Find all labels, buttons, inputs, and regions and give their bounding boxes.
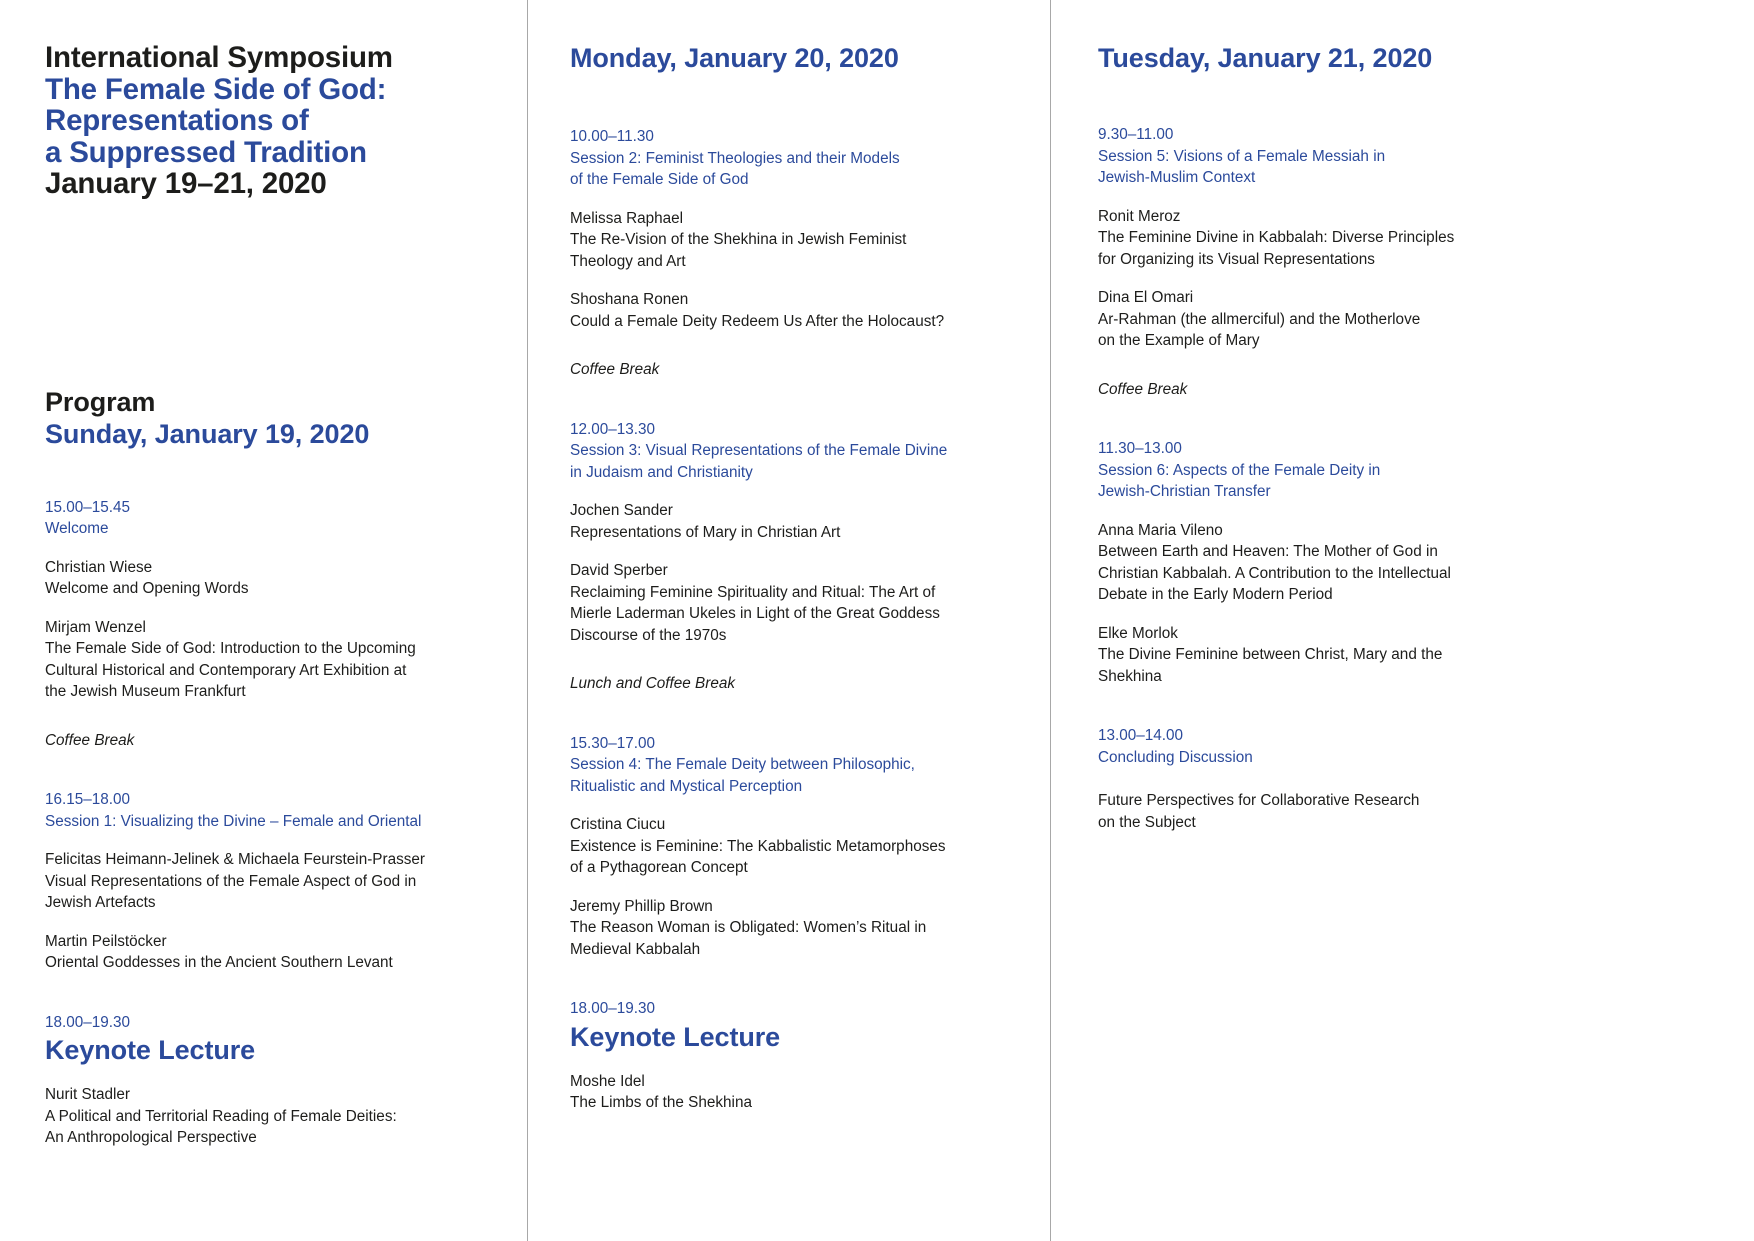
talk-title-line: Oriental Goddesses in the Ancient Southe… [45, 952, 497, 974]
break-label: Coffee Break [570, 359, 1020, 381]
talk-item: Jeremy Phillip Brown The Reason Woman is… [570, 896, 1020, 961]
talk-title-line: of a Pythagorean Concept [570, 857, 1020, 879]
talk-title-line: The Reason Woman is Obligated: Women’s R… [570, 917, 1020, 939]
talk-item: David Sperber Reclaiming Feminine Spirit… [570, 560, 1020, 646]
talk-item: Moshe Idel The Limbs of the Shekhina [570, 1071, 1020, 1114]
talk-title-line: An Anthropological Perspective [45, 1127, 497, 1149]
slot-welcome: 15.00–15.45 Welcome Christian Wiese Welc… [45, 497, 497, 752]
talk-item: Melissa Raphael The Re-Vision of the She… [570, 208, 1020, 273]
talk-title-line: Welcome and Opening Words [45, 578, 497, 600]
talk-title-line: The Divine Feminine between Christ, Mary… [1098, 644, 1714, 666]
speaker-name: Elke Morlok [1098, 623, 1714, 645]
keynote-label: Keynote Lecture [45, 1034, 497, 1067]
slot-session-4: 15.30–17.00 Session 4: The Female Deity … [570, 733, 1020, 961]
talk-title-line: Shekhina [1098, 666, 1714, 688]
talk-title-line: the Jewish Museum Frankfurt [45, 681, 497, 703]
slot-time: 15.00–15.45 [45, 497, 497, 519]
slot-time: 13.00–14.00 [1098, 725, 1714, 747]
slot-session-title: Concluding Discussion [1098, 747, 1714, 769]
slot-session-title: Welcome [45, 518, 497, 540]
talk-title-line: The Female Side of God: Introduction to … [45, 638, 497, 660]
symposium-title: International Symposium The Female Side … [45, 42, 497, 200]
talk-item: Cristina Ciucu Existence is Feminine: Th… [570, 814, 1020, 879]
talk-item: Ronit Meroz The Feminine Divine in Kabba… [1098, 206, 1714, 271]
slot-concluding-discussion: 13.00–14.00 Concluding Discussion Future… [1098, 725, 1714, 833]
talk-item: Felicitas Heimann-Jelinek & Michaela Feu… [45, 849, 497, 914]
talk-title-line: The Feminine Divine in Kabbalah: Diverse… [1098, 227, 1714, 249]
break-label: Coffee Break [45, 730, 497, 752]
speaker-name: Melissa Raphael [570, 208, 1020, 230]
slot-time: 10.00–11.30 [570, 126, 1020, 148]
break-label: Lunch and Coffee Break [570, 673, 1020, 695]
slot-session-title: Session 1: Visualizing the Divine – Fema… [45, 811, 497, 833]
talk-title-line: The Limbs of the Shekhina [570, 1092, 1020, 1114]
slot-session-title: Session 6: Aspects of the Female Deity i… [1098, 460, 1714, 482]
talk-title-line: Theology and Art [570, 251, 1020, 273]
talk-title-line: Medieval Kabbalah [570, 939, 1020, 961]
title-line-4: a Suppressed Tradition [45, 137, 497, 169]
talk-title-line: Between Earth and Heaven: The Mother of … [1098, 541, 1714, 563]
column-sunday: International Symposium The Female Side … [0, 0, 527, 1241]
speaker-name: Shoshana Ronen [570, 289, 1020, 311]
talk-title-line: Cultural Historical and Contemporary Art… [45, 660, 497, 682]
slot-session-title: Session 2: Feminist Theologies and their… [570, 148, 1020, 170]
program-heading: Program Sunday, January 19, 2020 [45, 386, 497, 450]
talk-item: Christian Wiese Welcome and Opening Word… [45, 557, 497, 600]
talk-title-line: The Re-Vision of the Shekhina in Jewish … [570, 229, 1020, 251]
slot-time: 11.30–13.00 [1098, 438, 1714, 460]
day-heading-monday: Monday, January 20, 2020 [570, 42, 1020, 74]
title-line-5: January 19–21, 2020 [45, 168, 497, 200]
talk-title-line: Could a Female Deity Redeem Us After the… [570, 311, 1020, 333]
title-line-1: International Symposium [45, 42, 497, 74]
keynote-label: Keynote Lecture [570, 1021, 1020, 1054]
talk-title-line: Existence is Feminine: The Kabbalistic M… [570, 836, 1020, 858]
slot-session-6: 11.30–13.00 Session 6: Aspects of the Fe… [1098, 438, 1714, 687]
concluding-note: Future Perspectives for Collaborative Re… [1098, 790, 1714, 833]
day-heading-tuesday: Tuesday, January 21, 2020 [1098, 42, 1714, 74]
talk-item: Elke Morlok The Divine Feminine between … [1098, 623, 1714, 688]
slot-session-title-cont: Jewish-Christian Transfer [1098, 481, 1714, 503]
talk-title-line: Jewish Artefacts [45, 892, 497, 914]
slot-session-1: 16.15–18.00 Session 1: Visualizing the D… [45, 789, 497, 974]
slot-session-2: 10.00–11.30 Session 2: Feminist Theologi… [570, 126, 1020, 381]
talk-title-line: Debate in the Early Modern Period [1098, 584, 1714, 606]
slot-time: 9.30–11.00 [1098, 124, 1714, 146]
talk-title-line: Ar-Rahman (the allmerciful) and the Moth… [1098, 309, 1714, 331]
slot-time: 18.00–19.30 [45, 1012, 497, 1034]
speaker-name: Nurit Stadler [45, 1084, 497, 1106]
slot-time: 15.30–17.00 [570, 733, 1020, 755]
talk-item: Shoshana Ronen Could a Female Deity Rede… [570, 289, 1020, 332]
talk-title-line: Discourse of the 1970s [570, 625, 1020, 647]
speaker-name: Cristina Ciucu [570, 814, 1020, 836]
break-label: Coffee Break [1098, 379, 1714, 401]
slot-session-title-cont: in Judaism and Christianity [570, 462, 1020, 484]
slot-session-title: Session 5: Visions of a Female Messiah i… [1098, 146, 1714, 168]
speaker-name: Jochen Sander [570, 500, 1020, 522]
talk-item: Martin Peilstöcker Oriental Goddesses in… [45, 931, 497, 974]
slot-keynote-sunday: 18.00–19.30 Keynote Lecture Nurit Stadle… [45, 1012, 497, 1149]
slot-session-title: Session 3: Visual Representations of the… [570, 440, 1020, 462]
slot-session-title-cont: Jewish-Muslim Context [1098, 167, 1714, 189]
speaker-name: Christian Wiese [45, 557, 497, 579]
speaker-name: Felicitas Heimann-Jelinek & Michaela Feu… [45, 849, 497, 871]
talk-title-line: Representations of Mary in Christian Art [570, 522, 1020, 544]
slot-session-title-cont: Ritualistic and Mystical Perception [570, 776, 1020, 798]
talk-title-line: A Political and Territorial Reading of F… [45, 1106, 497, 1128]
speaker-name: Jeremy Phillip Brown [570, 896, 1020, 918]
talk-item: Dina El Omari Ar-Rahman (the allmerciful… [1098, 287, 1714, 352]
speaker-name: Moshe Idel [570, 1071, 1020, 1093]
column-monday: Monday, January 20, 2020 10.00–11.30 Ses… [527, 0, 1050, 1241]
slot-session-title: Session 4: The Female Deity between Phil… [570, 754, 1020, 776]
title-line-2: The Female Side of God: [45, 74, 497, 106]
speaker-name: Martin Peilstöcker [45, 931, 497, 953]
note-line: Future Perspectives for Collaborative Re… [1098, 790, 1714, 812]
talk-item: Jochen Sander Representations of Mary in… [570, 500, 1020, 543]
speaker-name: Anna Maria Vileno [1098, 520, 1714, 542]
slot-time: 18.00–19.30 [570, 998, 1020, 1020]
column-tuesday: Tuesday, January 21, 2020 9.30–11.00 Ses… [1050, 0, 1754, 1241]
note-line: on the Subject [1098, 812, 1714, 834]
slot-keynote-monday: 18.00–19.30 Keynote Lecture Moshe Idel T… [570, 998, 1020, 1114]
speaker-name: Mirjam Wenzel [45, 617, 497, 639]
slot-time: 16.15–18.00 [45, 789, 497, 811]
talk-title-line: Visual Representations of the Female Asp… [45, 871, 497, 893]
speaker-name: Dina El Omari [1098, 287, 1714, 309]
talk-title-line: Christian Kabbalah. A Contribution to th… [1098, 563, 1714, 585]
talk-title-line: for Organizing its Visual Representation… [1098, 249, 1714, 271]
day-heading-sunday: Sunday, January 19, 2020 [45, 418, 497, 450]
speaker-name: David Sperber [570, 560, 1020, 582]
talk-item: Nurit Stadler A Political and Territoria… [45, 1084, 497, 1149]
program-poster: International Symposium The Female Side … [0, 0, 1754, 1241]
talk-title-line: Reclaiming Feminine Spirituality and Rit… [570, 582, 1020, 604]
slot-session-title-cont: of the Female Side of God [570, 169, 1020, 191]
talk-title-line: Mierle Laderman Ukeles in Light of the G… [570, 603, 1020, 625]
slot-session-5: 9.30–11.00 Session 5: Visions of a Femal… [1098, 124, 1714, 400]
program-label: Program [45, 386, 497, 418]
slot-time: 12.00–13.30 [570, 419, 1020, 441]
talk-item: Mirjam Wenzel The Female Side of God: In… [45, 617, 497, 703]
title-line-3: Representations of [45, 105, 497, 137]
talk-title-line: on the Example of Mary [1098, 330, 1714, 352]
slot-session-3: 12.00–13.30 Session 3: Visual Representa… [570, 419, 1020, 695]
speaker-name: Ronit Meroz [1098, 206, 1714, 228]
talk-item: Anna Maria Vileno Between Earth and Heav… [1098, 520, 1714, 606]
